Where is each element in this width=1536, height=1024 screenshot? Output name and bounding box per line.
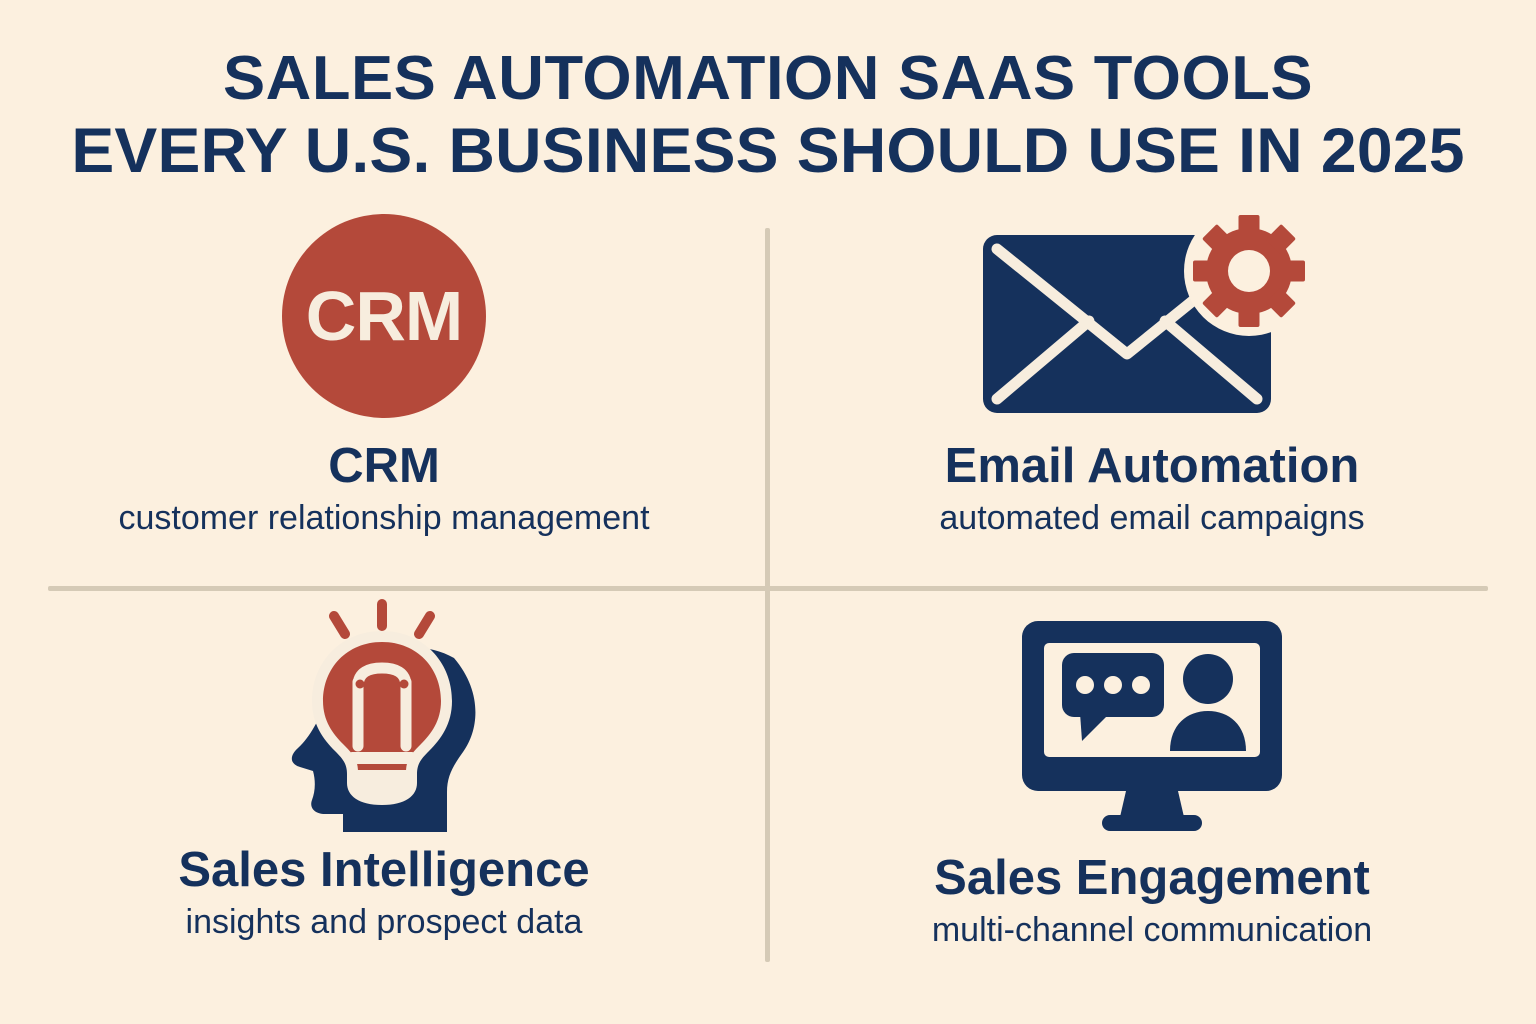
crm-icon-wrap: CRM [282,196,486,436]
monitor-chat-person-icon [1018,617,1286,833]
head-lightbulb-icon [271,596,497,838]
quadrant-intelligence-title: Sales Intelligence [178,842,589,898]
quadrant-intelligence-subtitle: insights and prospect data [186,902,583,942]
quadrant-grid: CRM CRM customer relationship management [0,196,1536,996]
quadrant-crm-title: CRM [328,438,440,494]
quadrant-crm[interactable]: CRM CRM customer relationship management [0,196,768,588]
envelope-gear-icon [977,209,1327,424]
quadrant-sales-engagement[interactable]: Sales Engagement multi-channel communica… [768,588,1536,980]
engagement-icon-wrap [1018,588,1286,850]
page-title: SALES AUTOMATION SAAS TOOLS EVERY U.S. B… [0,42,1536,188]
quadrant-engagement-subtitle: multi-channel communication [932,910,1372,950]
intelligence-icon-wrap [271,588,497,842]
email-icon-wrap [977,196,1327,436]
title-line-1: SALES AUTOMATION SAAS TOOLS [0,42,1536,115]
quadrant-email-title: Email Automation [945,438,1360,494]
quadrant-sales-intelligence[interactable]: Sales Intelligence insights and prospect… [0,588,768,980]
quadrant-crm-subtitle: customer relationship management [118,498,649,538]
title-line-2: EVERY U.S. BUSINESS SHOULD USE IN 2025 [0,115,1536,188]
crm-circle-label: CRM [306,281,462,351]
quadrant-engagement-title: Sales Engagement [934,850,1370,906]
crm-circle-icon: CRM [282,214,486,418]
quadrant-email-automation[interactable]: Email Automation automated email campaig… [768,196,1536,588]
quadrant-email-subtitle: automated email campaigns [939,498,1364,538]
